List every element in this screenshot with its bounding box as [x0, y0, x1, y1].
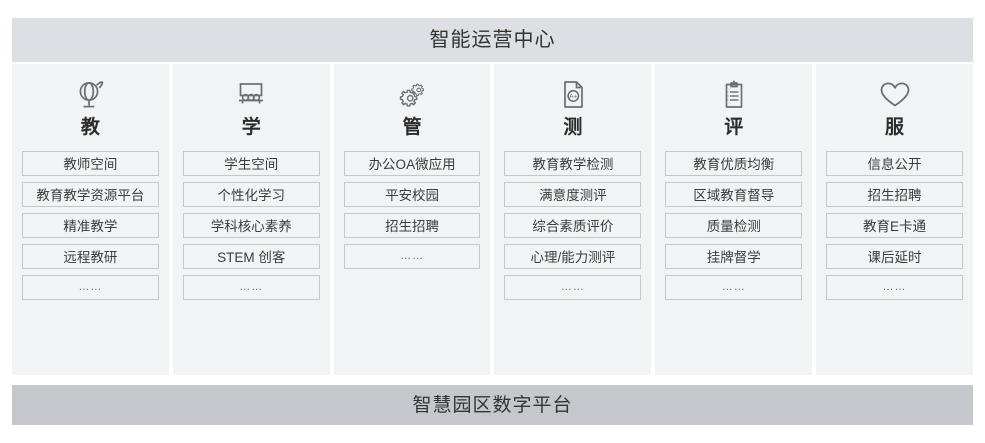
header-bar: 智能运营中心 [12, 18, 973, 62]
list-item-more[interactable]: …… [344, 244, 481, 269]
list-item[interactable]: 个性化学习 [183, 182, 320, 207]
list-item[interactable]: 教育E卡通 [826, 213, 963, 238]
list-item[interactable]: 质量检测 [665, 213, 802, 238]
column-ping: 评 教育优质均衡 区域教育督导 质量检测 挂牌督学 …… [655, 64, 812, 375]
column-xue: 学 学生空间 个性化学习 学科核心素养 STEM 创客 …… [173, 64, 330, 375]
heart-icon [826, 78, 963, 112]
gears-icon [344, 78, 481, 112]
item-list: 教师空间 教育教学资源平台 精准教学 远程教研 …… [22, 151, 159, 300]
list-item[interactable]: 办公OA微应用 [344, 151, 481, 176]
list-item-more[interactable]: …… [826, 275, 963, 300]
list-item[interactable]: 教育教学资源平台 [22, 182, 159, 207]
list-item-more[interactable]: …… [504, 275, 641, 300]
list-item[interactable]: 区域教育督导 [665, 182, 802, 207]
svg-text:A+: A+ [569, 94, 577, 101]
list-item[interactable]: 挂牌督学 [665, 244, 802, 269]
item-list: 教育优质均衡 区域教育督导 质量检测 挂牌督学 …… [665, 151, 802, 300]
intelligent-operations-center-diagram: 智能运营中心 教 教师空间 教育教学资源平台 精准教学 远程教研 …… [0, 0, 985, 443]
classroom-icon [183, 78, 320, 112]
footer-title: 智慧园区数字平台 [412, 396, 572, 415]
list-item-more[interactable]: …… [22, 275, 159, 300]
list-item[interactable]: 平安校园 [344, 182, 481, 207]
globe-icon [22, 78, 159, 112]
column-jiao: 教 教师空间 教育教学资源平台 精准教学 远程教研 …… [12, 64, 169, 375]
item-list: 信息公开 招生招聘 教育E卡通 课后延时 …… [826, 151, 963, 300]
list-item-more[interactable]: …… [665, 275, 802, 300]
column-ce: A+ 测 教育教学检测 满意度测评 综合素质评价 心理/能力测评 …… [494, 64, 651, 375]
list-item[interactable]: 课后延时 [826, 244, 963, 269]
column-guan: 管 办公OA微应用 平安校园 招生招聘 …… [334, 64, 491, 375]
column-fu: 服 信息公开 招生招聘 教育E卡通 课后延时 …… [816, 64, 973, 375]
list-item[interactable]: 精准教学 [22, 213, 159, 238]
list-item[interactable]: 招生招聘 [344, 213, 481, 238]
footer-bar: 智慧园区数字平台 [12, 385, 973, 425]
list-item[interactable]: STEM 创客 [183, 244, 320, 269]
list-item[interactable]: 教师空间 [22, 151, 159, 176]
list-item[interactable]: 学科核心素养 [183, 213, 320, 238]
list-item[interactable]: 教育教学检测 [504, 151, 641, 176]
list-item[interactable]: 满意度测评 [504, 182, 641, 207]
column-title: 评 [665, 116, 802, 140]
column-title: 服 [826, 116, 963, 140]
list-item-more[interactable]: …… [183, 275, 320, 300]
item-list: 学生空间 个性化学习 学科核心素养 STEM 创客 …… [183, 151, 320, 300]
list-item[interactable]: 招生招聘 [826, 182, 963, 207]
column-title: 测 [504, 116, 641, 140]
column-title: 管 [344, 116, 481, 140]
clipboard-icon [665, 78, 802, 112]
list-item[interactable]: 学生空间 [183, 151, 320, 176]
item-list: 办公OA微应用 平安校园 招生招聘 …… [344, 151, 481, 269]
column-container: 教 教师空间 教育教学资源平台 精准教学 远程教研 …… [12, 64, 973, 375]
list-item[interactable]: 综合素质评价 [504, 213, 641, 238]
page-title: 智能运营中心 [430, 30, 556, 50]
grade-document-icon: A+ [504, 78, 641, 112]
column-title: 学 [183, 116, 320, 140]
list-item[interactable]: 远程教研 [22, 244, 159, 269]
column-title: 教 [22, 116, 159, 140]
list-item[interactable]: 教育优质均衡 [665, 151, 802, 176]
list-item[interactable]: 心理/能力测评 [504, 244, 641, 269]
list-item[interactable]: 信息公开 [826, 151, 963, 176]
item-list: 教育教学检测 满意度测评 综合素质评价 心理/能力测评 …… [504, 151, 641, 300]
